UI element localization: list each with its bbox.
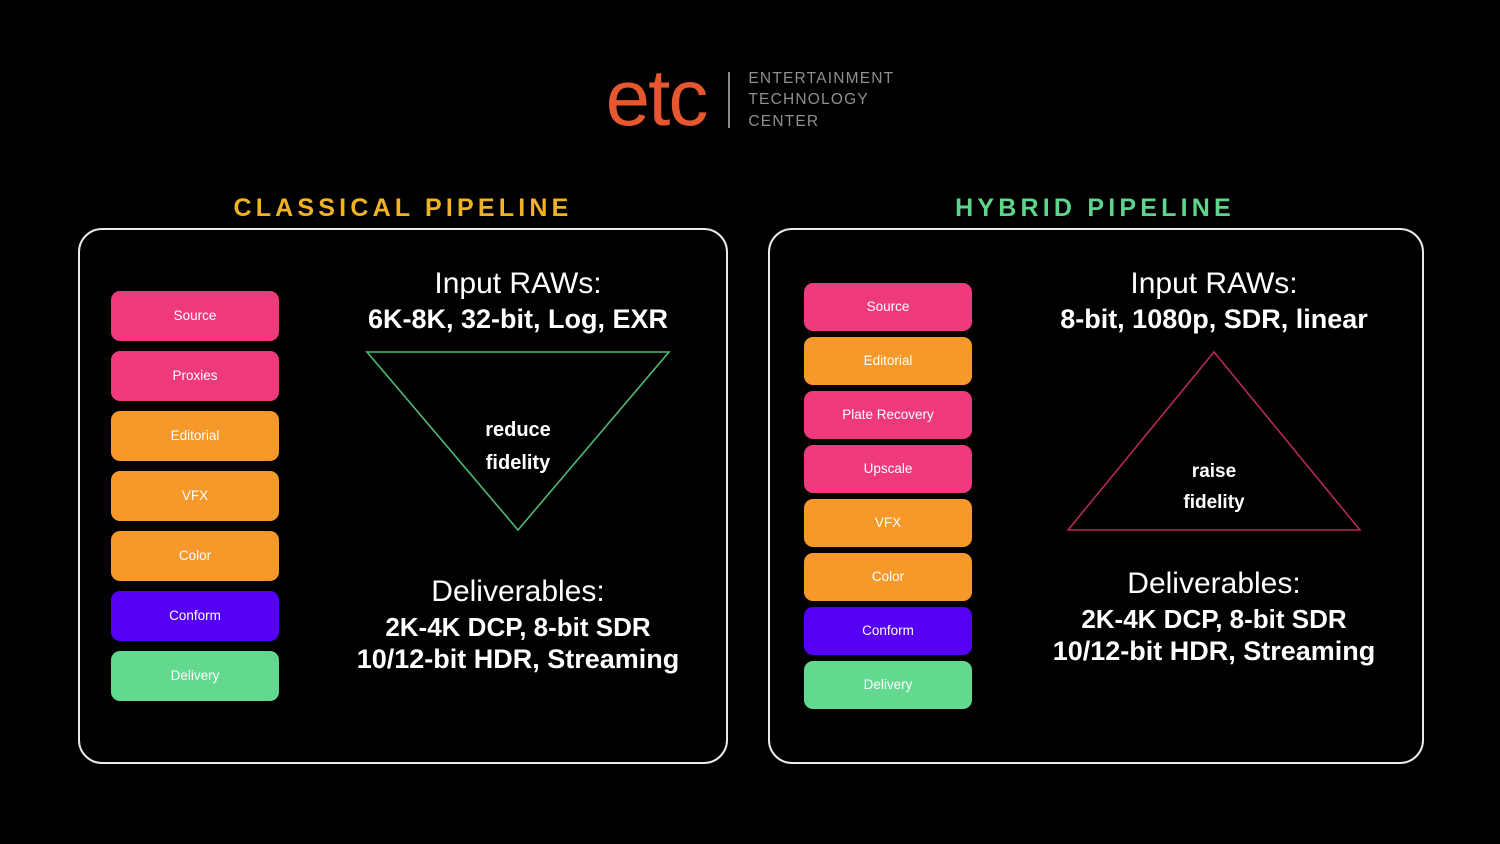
classical-fidelity-line-2: fidelity: [485, 447, 551, 480]
hybrid-stage-list: Source Editorial Plate Recovery Upscale …: [770, 230, 1006, 762]
stage-box-proxies[interactable]: Proxies: [111, 351, 279, 401]
hybrid-deliverables-label: Deliverables:: [1053, 566, 1376, 603]
classical-deliverables: Deliverables: 2K-4K DCP, 8-bit SDR 10/12…: [357, 574, 680, 677]
stage-box-plate-recovery[interactable]: Plate Recovery: [804, 391, 972, 439]
stage-box-upscale[interactable]: Upscale: [804, 445, 972, 493]
classical-deliverables-line-1: 2K-4K DCP, 8-bit SDR: [357, 611, 680, 644]
hybrid-pipeline-card: Source Editorial Plate Recovery Upscale …: [768, 228, 1424, 764]
classical-fidelity-line-1: reduce: [485, 414, 551, 447]
classical-deliverables-label: Deliverables:: [357, 574, 680, 611]
stage-box-delivery[interactable]: Delivery: [111, 651, 279, 701]
stage-box-conform[interactable]: Conform: [804, 607, 972, 655]
etc-logo-line-2: TECHNOLOGY: [748, 90, 894, 109]
hybrid-fidelity-line-2: fidelity: [1183, 487, 1244, 518]
hybrid-pipeline-title: HYBRID PIPELINE: [770, 194, 1420, 223]
classical-pipeline-title: CLASSICAL PIPELINE: [78, 194, 728, 223]
slide-canvas: etc ENTERTAINMENT TECHNOLOGY CENTER CLAS…: [0, 0, 1500, 844]
etc-logo: etc ENTERTAINMENT TECHNOLOGY CENTER: [0, 62, 1500, 138]
classical-input-label: Input RAWs:: [434, 266, 601, 303]
classical-pipeline-card: Source Proxies Editorial VFX Color Confo…: [78, 228, 728, 764]
hybrid-deliverables-line-2: 10/12-bit HDR, Streaming: [1053, 635, 1376, 669]
hybrid-fidelity-line-1: raise: [1183, 456, 1244, 487]
classical-fidelity-diagram: reduce fidelity: [310, 350, 726, 562]
stage-box-color[interactable]: Color: [111, 531, 279, 581]
classical-fidelity-label: reduce fidelity: [485, 414, 551, 480]
classical-stage-list: Source Proxies Editorial VFX Color Confo…: [80, 230, 310, 762]
hybrid-input-value: 8-bit, 1080p, SDR, linear: [1060, 303, 1368, 337]
hybrid-deliverables-line-1: 2K-4K DCP, 8-bit SDR: [1053, 603, 1376, 636]
stage-box-vfx[interactable]: VFX: [804, 499, 972, 547]
etc-logo-line-1: ENTERTAINMENT: [748, 69, 894, 88]
hybrid-deliverables: Deliverables: 2K-4K DCP, 8-bit SDR 10/12…: [1053, 566, 1376, 669]
hybrid-fidelity-label: raise fidelity: [1183, 456, 1244, 519]
etc-logo-text: ENTERTAINMENT TECHNOLOGY CENTER: [748, 69, 894, 131]
classical-input-value: 6K-8K, 32-bit, Log, EXR: [368, 303, 668, 337]
stage-box-editorial[interactable]: Editorial: [804, 337, 972, 385]
hybrid-detail-column: Input RAWs: 8-bit, 1080p, SDR, linear ra…: [1006, 230, 1422, 762]
hybrid-fidelity-diagram: raise fidelity: [1006, 350, 1422, 562]
stage-box-vfx[interactable]: VFX: [111, 471, 279, 521]
classical-detail-column: Input RAWs: 6K-8K, 32-bit, Log, EXR redu…: [310, 230, 726, 762]
stage-box-delivery[interactable]: Delivery: [804, 661, 972, 709]
hybrid-input-label: Input RAWs:: [1130, 266, 1297, 303]
logo-divider: [728, 72, 730, 128]
stage-box-source[interactable]: Source: [111, 291, 279, 341]
stage-box-source[interactable]: Source: [804, 283, 972, 331]
classical-deliverables-line-2: 10/12-bit HDR, Streaming: [357, 643, 680, 677]
stage-box-editorial[interactable]: Editorial: [111, 411, 279, 461]
stage-box-conform[interactable]: Conform: [111, 591, 279, 641]
stage-box-color[interactable]: Color: [804, 553, 972, 601]
etc-wordmark-icon: etc: [606, 60, 707, 136]
etc-logo-line-3: CENTER: [748, 112, 894, 131]
